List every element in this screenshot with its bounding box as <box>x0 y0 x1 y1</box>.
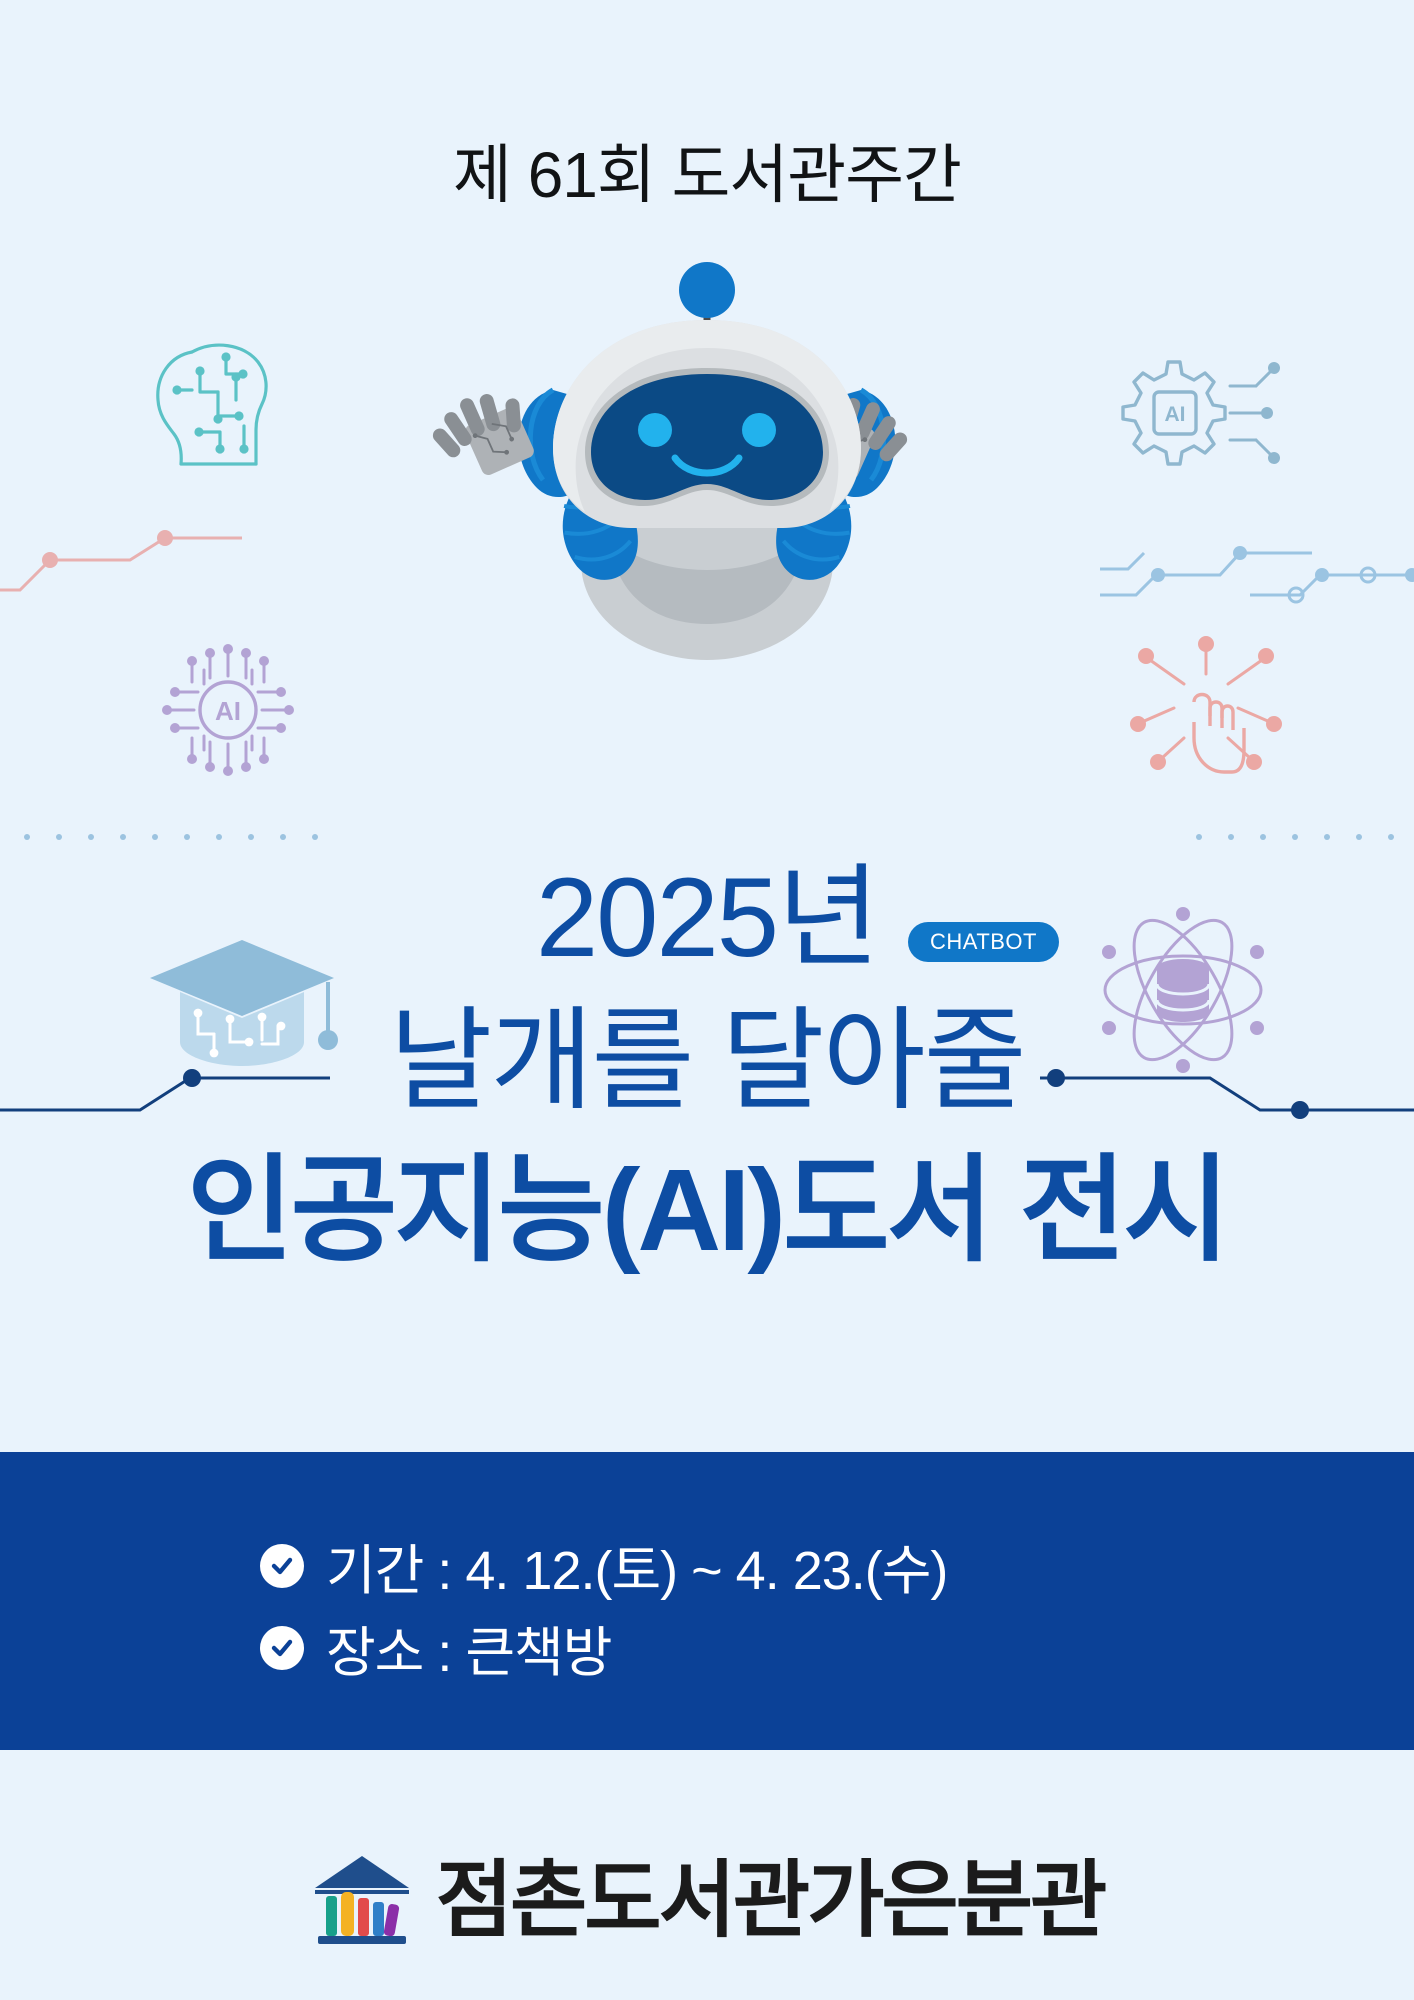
headline-line-2: 날개를 달아줄 <box>0 1005 1414 1117</box>
event-info-band: 기간 : 4. 12.(토) ~ 4. 23.(수) 장소 : 큰책방 <box>0 1452 1414 1750</box>
check-circle-icon <box>260 1544 304 1588</box>
circuit-trace-icon <box>0 520 250 610</box>
ai-brain-head-icon <box>140 330 310 480</box>
page-title: 제 61회 도서관주간 <box>0 140 1414 210</box>
library-building-logo <box>310 1848 414 1952</box>
info-row-period-text: 기간 : 4. 12.(토) ~ 4. 23.(수) <box>326 1526 947 1605</box>
headline-line-3: 인공지능(AI)도서 전시 <box>0 1152 1414 1268</box>
chatbot-robot-mascot: CHATBOT <box>403 262 1011 662</box>
check-circle-icon <box>260 1626 304 1670</box>
dotted-divider-right <box>1196 834 1414 840</box>
touch-hand-network-icon <box>1122 630 1292 790</box>
info-row-location: 장소 : 큰책방 <box>260 1608 611 1687</box>
dotted-divider-left <box>24 834 364 840</box>
circuit-nodes-icon <box>1100 535 1414 615</box>
headline-line-1: 2025년 <box>0 862 1414 974</box>
info-row-period: 기간 : 4. 12.(토) ~ 4. 23.(수) <box>260 1526 947 1605</box>
organization-name: 점촌도서관가은분관 <box>436 1858 1105 1942</box>
svg-text:AI: AI <box>215 696 241 726</box>
ai-gear-chip-icon: AI <box>1110 340 1290 490</box>
poster-root: AI <box>0 0 1414 2000</box>
ai-circuit-chip-icon: AI <box>148 630 308 790</box>
chatbot-badge: CHATBOT <box>908 922 1059 962</box>
footer: 점촌도서관가은분관 <box>0 1820 1414 1980</box>
svg-text:AI: AI <box>1165 403 1186 426</box>
info-row-location-text: 장소 : 큰책방 <box>326 1608 611 1687</box>
